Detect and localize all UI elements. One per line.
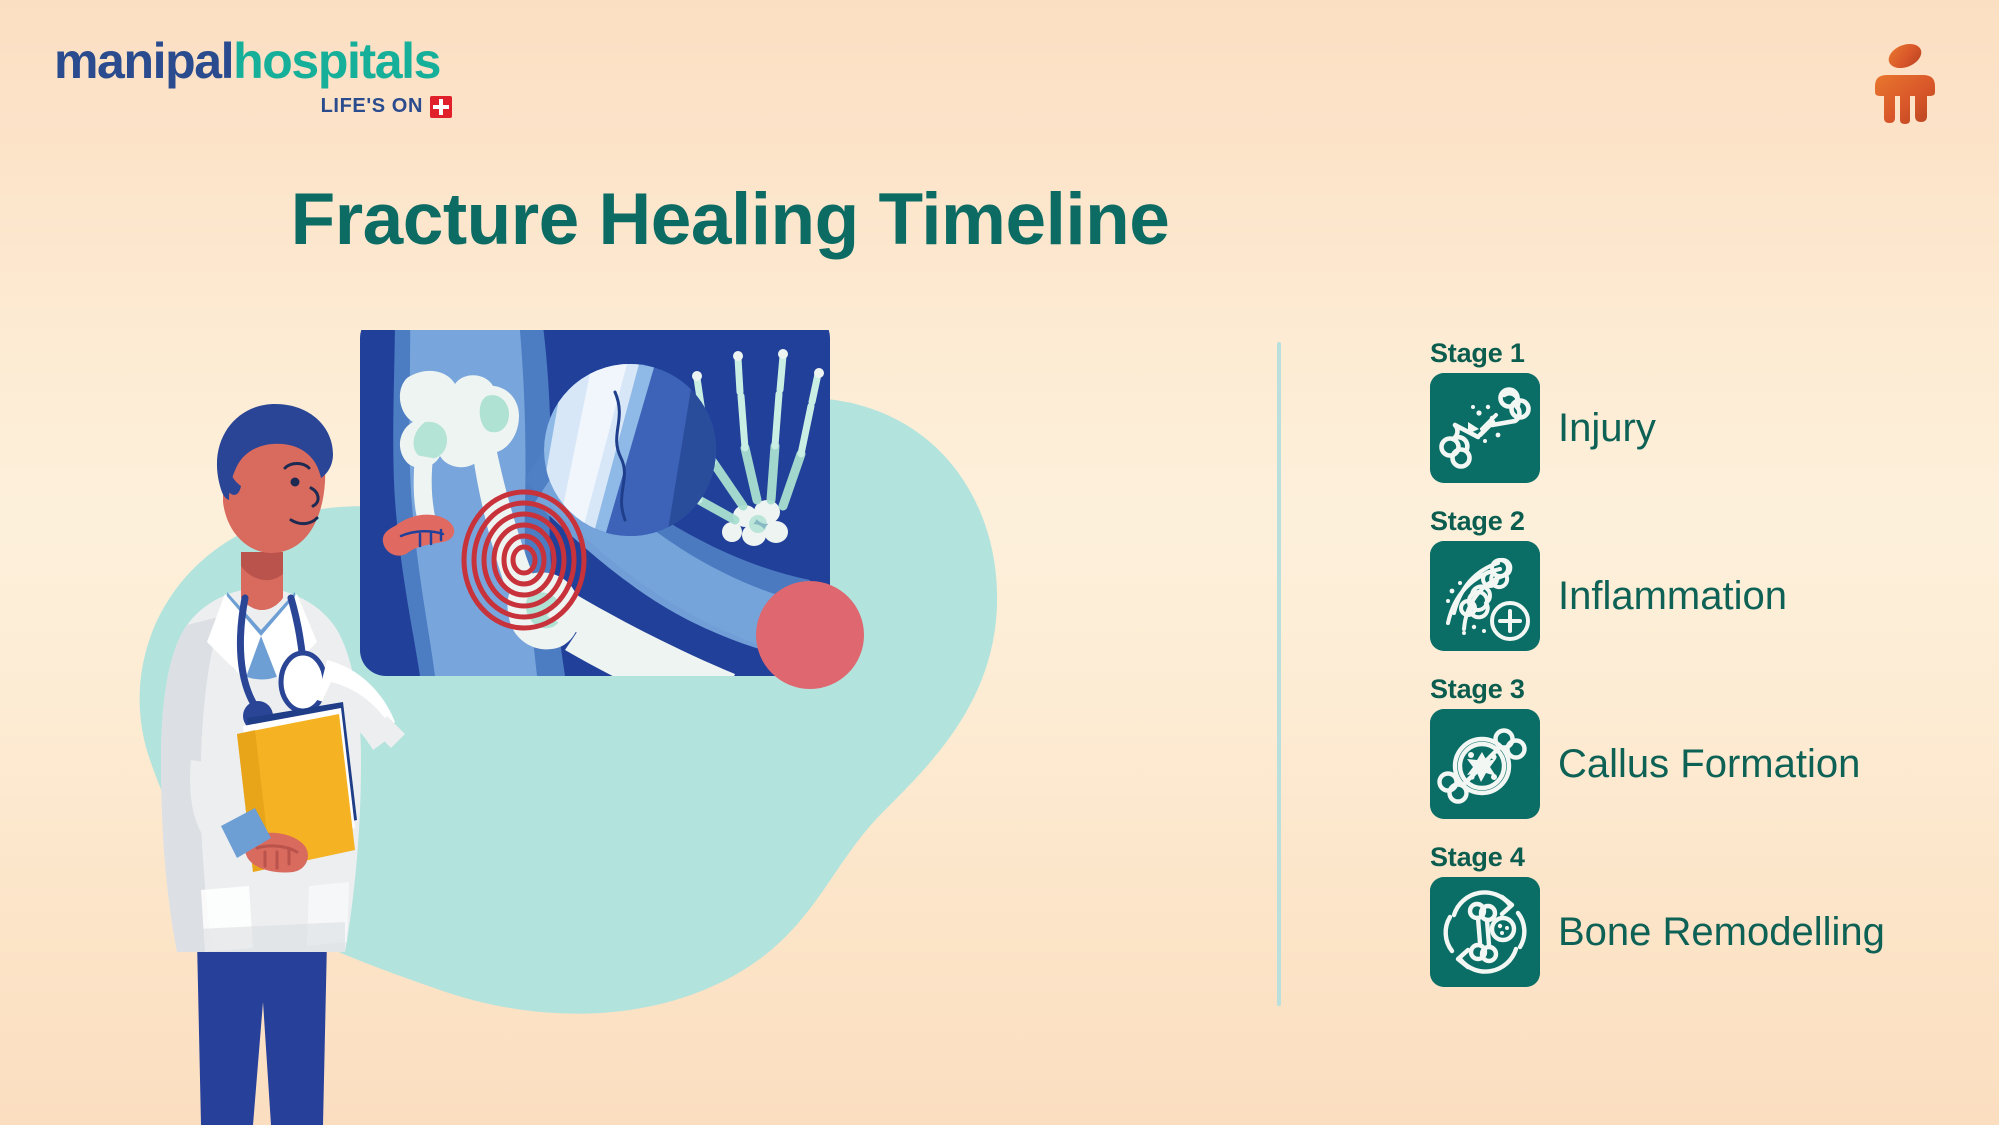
stage-label: Callus Formation xyxy=(1558,744,1860,784)
stage-body-wrap: Stage 3 xyxy=(1430,676,1990,819)
brand-tagline-row: LIFE'S ON xyxy=(54,95,454,118)
stage-item-4[interactable]: Stage 4 xyxy=(1430,844,1990,1012)
stage-list: Stage 1 xyxy=(1430,340,1990,1012)
red-cross-icon xyxy=(430,96,452,118)
broken-bone-icon xyxy=(1430,373,1540,483)
brand-name-hospitals: hospitals xyxy=(233,33,440,89)
stage-caption: Stage 4 xyxy=(1430,844,1990,871)
stage-body: Callus Formation xyxy=(1430,709,1990,819)
doctor-reviewing-xray-illustration xyxy=(95,330,1165,1125)
bone-cycle-arrows-icon xyxy=(1430,877,1540,987)
stage-label: Inflammation xyxy=(1558,576,1787,616)
stage-body: Inflammation xyxy=(1430,541,1990,651)
coral-accent-circle xyxy=(756,581,864,689)
stage-caption: Stage 2 xyxy=(1430,508,1990,535)
stage-label: Injury xyxy=(1558,408,1656,448)
manipal-flame-mark-icon xyxy=(1865,42,1943,124)
doctor-trousers xyxy=(197,940,327,1125)
vertical-divider xyxy=(1277,342,1281,1006)
stage-item-1[interactable]: Stage 1 xyxy=(1430,340,1990,508)
stage-caption: Stage 3 xyxy=(1430,676,1990,703)
xray-panel xyxy=(360,330,830,728)
stage-item-3[interactable]: Stage 3 xyxy=(1430,676,1990,844)
stage-label: Bone Remodelling xyxy=(1558,912,1885,952)
stage-item-2[interactable]: Stage 2 xyxy=(1430,508,1990,676)
brand-wordmark: manipalhospitals xyxy=(54,36,454,86)
stage-body: Injury xyxy=(1430,373,1990,483)
inflamed-cells-medical-cross-icon xyxy=(1430,541,1540,651)
brand-tagline: LIFE'S ON xyxy=(321,95,423,118)
infographic-canvas: manipalhospitals LIFE'S ON Fracture Heal… xyxy=(0,0,1999,1125)
bone-callus-cell-icon xyxy=(1430,709,1540,819)
brand-name-manipal: manipal xyxy=(54,33,233,89)
page-title: Fracture Healing Timeline xyxy=(0,178,1460,261)
stage-body: Bone Remodelling xyxy=(1430,877,1990,987)
stage-caption: Stage 1 xyxy=(1430,340,1990,367)
manipal-hospitals-logo[interactable]: manipalhospitals LIFE'S ON xyxy=(54,36,454,132)
